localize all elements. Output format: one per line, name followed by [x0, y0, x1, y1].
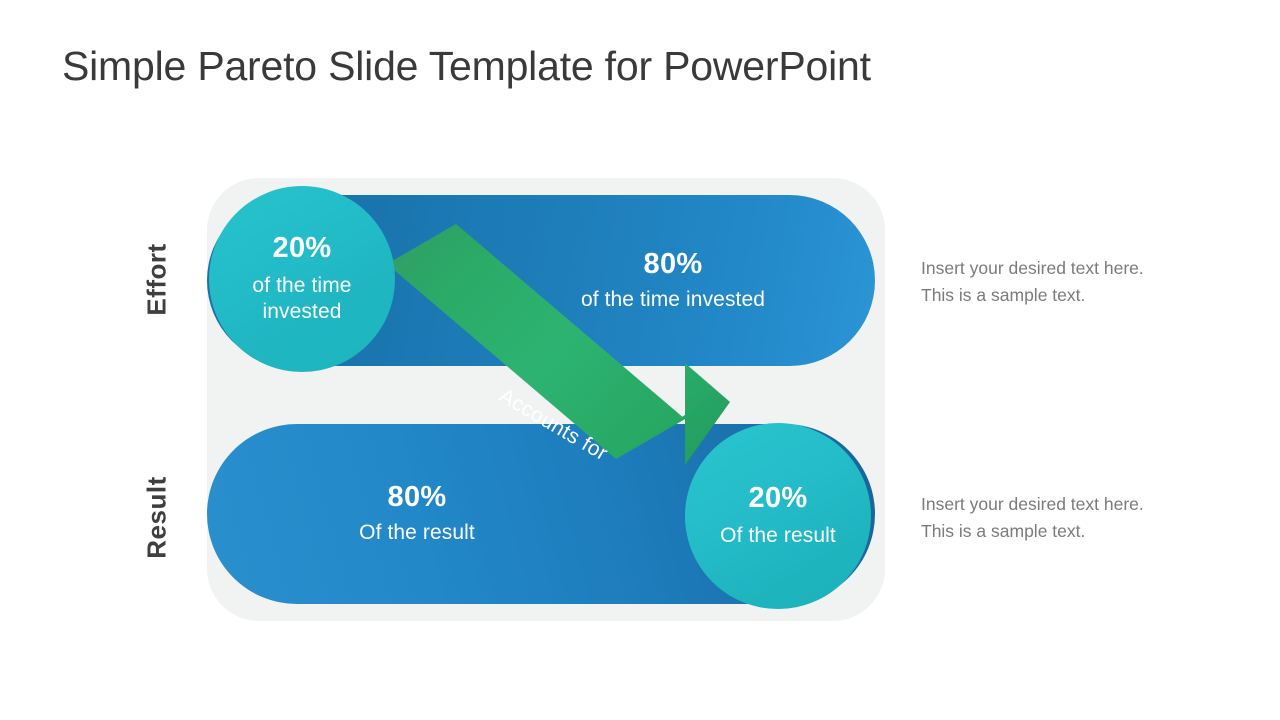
page-title: Simple Pareto Slide Template for PowerPo…	[62, 42, 871, 91]
axis-label-result: Result	[142, 463, 173, 573]
effort-circle[interactable]: 20% of the time invested	[209, 186, 395, 372]
effort-circle-percent: 20%	[273, 234, 332, 263]
slide-canvas: Simple Pareto Slide Template for PowerPo…	[0, 0, 1280, 720]
effort-circle-caption: of the time invested	[227, 273, 377, 324]
note-result[interactable]: Insert your desired text here. This is a…	[921, 491, 1151, 544]
result-circle[interactable]: 20% Of the result	[685, 423, 871, 609]
note-effort[interactable]: Insert your desired text here. This is a…	[921, 255, 1151, 308]
pareto-diagram: 80% of the time invested 80% Of the resu…	[207, 178, 885, 621]
axis-label-effort: Effort	[142, 225, 173, 335]
result-circle-caption: Of the result	[720, 523, 836, 549]
result-circle-percent: 20%	[749, 484, 808, 513]
